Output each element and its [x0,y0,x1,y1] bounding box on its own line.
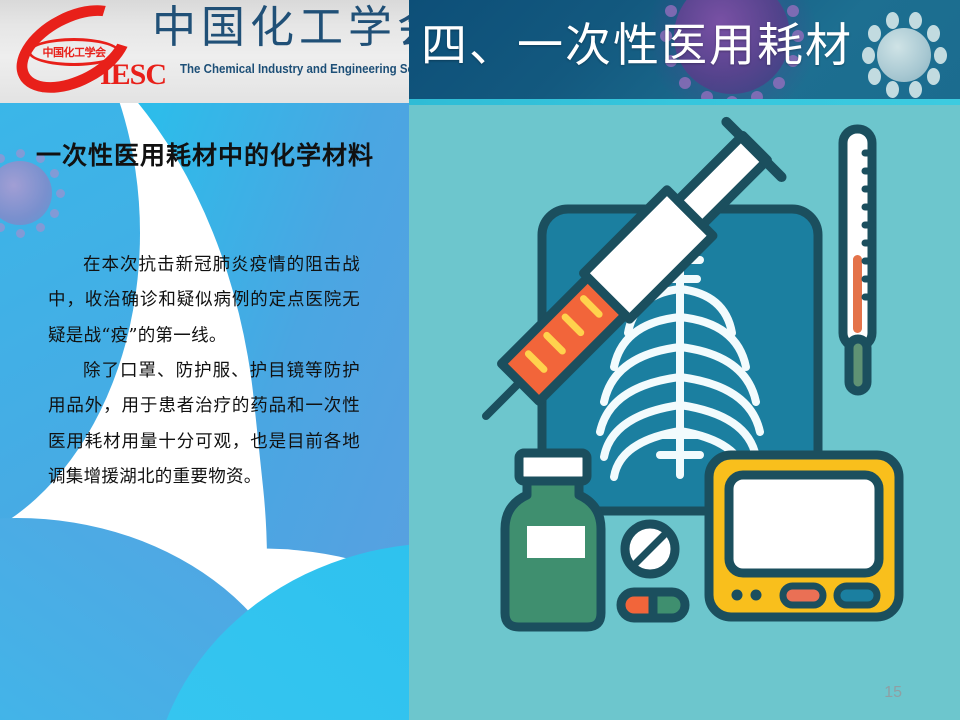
body-paragraph-2: 除了口罩、防护服、护目镜等防护用品外，用于患者治疗的药品和一次性医用耗材用量十分… [48,354,360,495]
virus-spike-icon [909,12,922,29]
left-panel-content: 一次性医用耗材中的化学材料 在本次抗击新冠肺炎疫情的阻击战中，收治确诊和疑似病例… [0,103,409,720]
medical-supplies-illustration [409,103,960,720]
thermometer-icon [843,129,873,391]
capsule-pill-icon [621,592,685,618]
section-heading: 一次性医用耗材中的化学材料 [30,139,380,173]
page-number: 15 [884,684,902,702]
virus-spike-icon [868,25,881,42]
left-text-panel: 一次性医用耗材中的化学材料 在本次抗击新冠肺炎疫情的阻击战中，收治确诊和疑似病例… [0,103,409,720]
logo-band: 中国化工学会 IESC 中国化工学会 The Chemical Industry… [0,0,409,103]
header-underline [409,99,960,105]
page-title: 四、一次性医用耗材 [421,9,853,75]
virus-spike-icon [934,47,947,64]
body-paragraph-1: 在本次抗击新冠肺炎疫情的阻击战中，收治确诊和疑似病例的定点医院无疑是战“疫”的第… [48,248,360,354]
virus-spike-icon [679,77,691,89]
patient-monitor-icon [709,455,899,617]
slide-root: 中国化工学会 IESC 中国化工学会 The Chemical Industry… [0,0,960,720]
virus-spike-icon [886,81,899,98]
organization-name-en: The Chemical Industry and Engineering So… [180,62,409,76]
medicine-bottle-icon [505,453,601,627]
virus-spike-icon [927,68,940,85]
round-pill-icon [625,524,675,574]
virus-spike-icon [862,47,875,64]
body-text: 在本次抗击新冠肺炎疫情的阻击战中，收治确诊和疑似病例的定点医院无疑是战“疫”的第… [48,248,360,495]
virus-spike-icon [927,25,940,42]
title-band: 四、一次性医用耗材 [409,0,960,103]
virus-spike-icon [868,68,881,85]
logo-badge-text: 中国化工学会 [43,47,106,58]
slide-header: 中国化工学会 IESC 中国化工学会 The Chemical Industry… [0,0,960,103]
logo-abbrev: IESC [100,58,166,92]
illustration-panel: 15 [409,103,960,720]
virus-icon-small [877,28,931,82]
virus-spike-icon [909,81,922,98]
virus-spike-icon [773,77,785,89]
organization-name-cn: 中国化工学会 [152,5,409,51]
virus-spike-icon [886,12,899,29]
